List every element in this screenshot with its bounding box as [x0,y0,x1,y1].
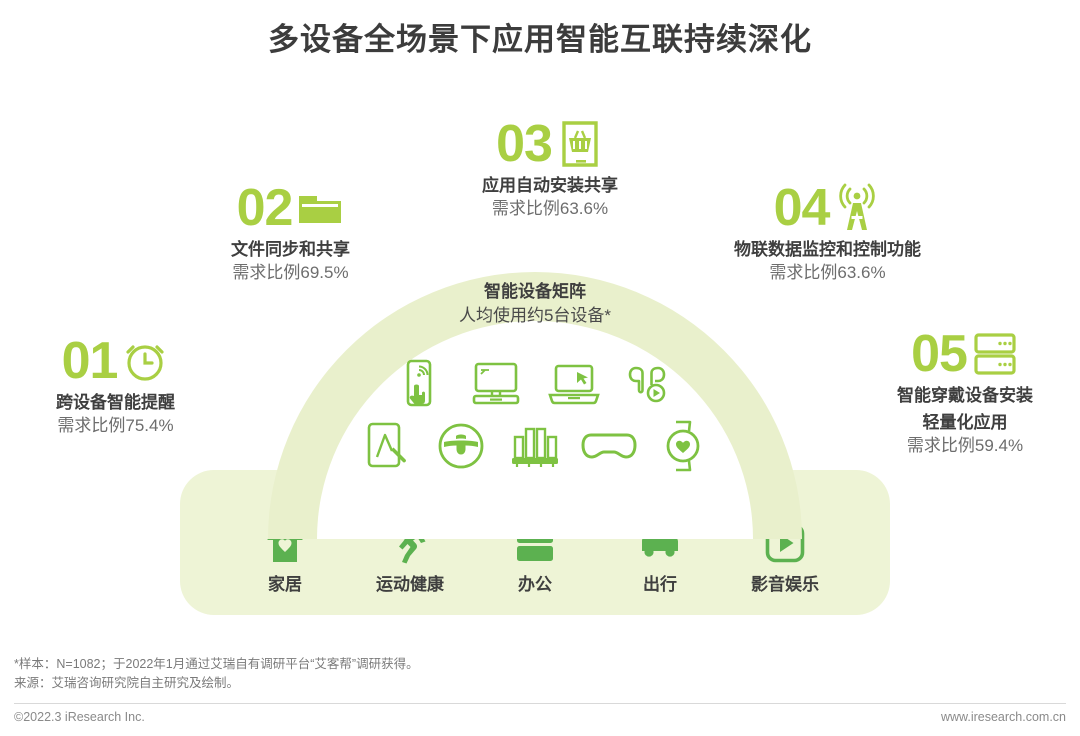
scene-label: 影音娱乐 [730,570,840,595]
arch-subtitle: 人均使用约5台设备* [268,304,802,328]
callout-head: 04 [700,182,955,234]
signal-tower-icon [833,184,881,232]
television-icon [466,358,526,410]
earbuds-icon [622,358,682,410]
callout-head: 01 [8,335,223,387]
footnotes: *样本：N=1082；于2022年1月通过艾瑞自有调研平台“艾客帮”调研获得。 … [14,655,714,693]
footer-divider [14,703,1066,704]
speakers-icon [505,420,565,472]
folder-icon [296,184,344,232]
callout-percent: 需求比例63.6% [700,261,955,284]
footnote-sample: *样本：N=1082；于2022年1月通过艾瑞自有调研平台“艾客帮”调研获得。 [14,655,714,674]
tablet-stylus-icon [357,420,417,472]
callout-item-01[interactable]: 01 跨设备智能提醒 需求比例75.4% [8,335,223,437]
callout-number: 02 [237,182,293,234]
infographic-page: 多设备全场景下应用智能互联持续深化 五大智慧生活场景 家居 [0,0,1080,736]
callout-name: 物联数据监控和控制功能 [700,238,955,261]
callout-name-line1: 智能穿戴设备安装 [855,384,1075,407]
callout-head: 05 [855,328,1075,380]
device-matrix [317,358,753,472]
device-row-1 [317,358,753,410]
callout-number: 05 [911,328,967,380]
callout-item-05[interactable]: 05 智能穿戴设备安装 轻量化应用 需求比例59.4% [855,328,1075,457]
copyright-text: ©2022.3 iResearch Inc. [14,710,145,724]
callout-item-04[interactable]: 04 物联数据监控和控制功能 需求比例63.6% [700,182,955,284]
smartwatch-icon [653,420,713,472]
steering-wheel-icon [431,420,491,472]
arch-heading: 智能设备矩阵 人均使用约5台设备* [268,280,802,328]
laptop-icon [544,358,604,410]
callout-head: 02 [188,182,393,234]
callout-percent: 需求比例63.6% [440,197,660,220]
alarm-clock-icon [121,337,169,385]
callout-head: 03 [440,118,660,170]
device-row-2 [317,420,753,472]
callout-percent: 需求比例69.5% [188,261,393,284]
scene-label: 运动健康 [355,570,465,595]
scene-label: 出行 [605,570,715,595]
footnote-source: 来源：艾瑞咨询研究院自主研究及绘制。 [14,674,714,693]
callout-item-03[interactable]: 03 应用自动安装共享 需求比例63.6% [440,118,660,220]
callout-name-line2: 轻量化应用 [855,411,1075,434]
vr-headset-icon [579,420,639,472]
callout-item-02[interactable]: 02 文件同步和共享 需求比例69.5% [188,182,393,284]
website-link[interactable]: www.iresearch.com.cn [941,710,1066,724]
callout-name: 文件同步和共享 [188,238,393,261]
callout-name: 应用自动安装共享 [440,174,660,197]
server-rack-icon [971,330,1019,378]
callout-name: 跨设备智能提醒 [8,391,223,414]
callout-number: 03 [496,118,552,170]
tablet-shopping-basket-icon [556,120,604,168]
callout-number: 04 [774,182,830,234]
scene-label: 家居 [230,570,340,595]
smartphone-touch-icon [388,358,448,410]
scene-label: 办公 [480,570,590,595]
callout-number: 01 [62,335,118,387]
callout-percent: 需求比例59.4% [855,434,1075,457]
callout-percent: 需求比例75.4% [8,414,223,437]
